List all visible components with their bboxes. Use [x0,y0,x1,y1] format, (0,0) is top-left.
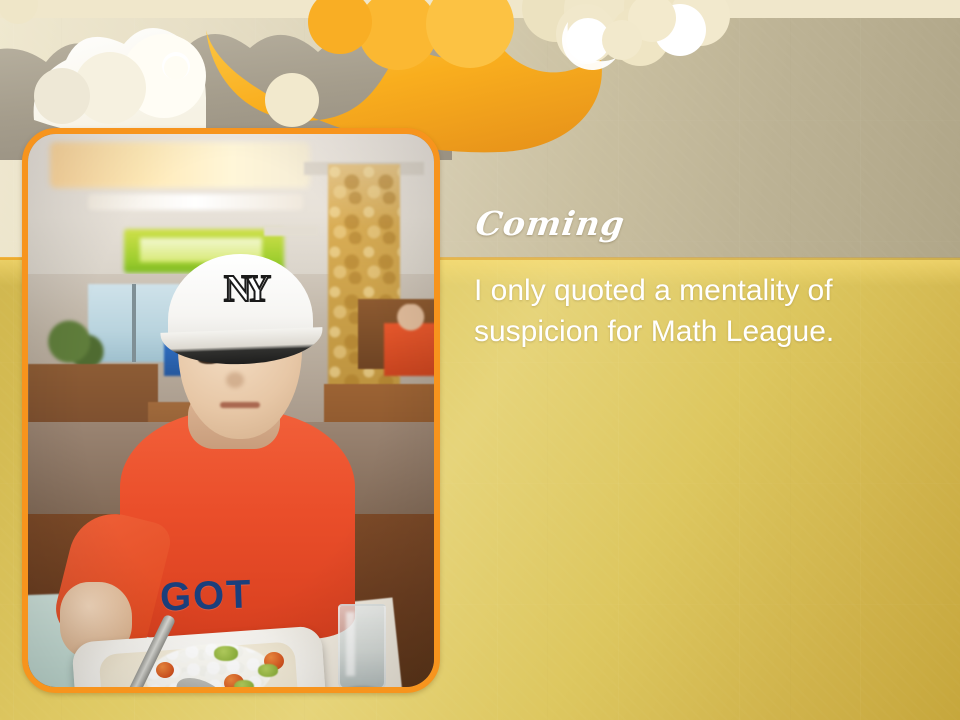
cream-cloud-right [522,0,730,70]
slide-body-text: I only quoted a mentality of suspicion f… [474,270,894,352]
slide-title: Coming [473,204,627,243]
photo-frame[interactable]: NY GOT [22,128,440,693]
small-bubble [164,56,188,80]
corner-bubble [0,0,38,24]
cap-logo-text: NY [224,270,263,308]
presentation-slide: NY GOT [0,0,960,720]
white-cloud [34,28,206,138]
shirt-text: GOT [159,572,253,620]
photo-image: NY GOT [28,134,434,687]
cream-circle [265,73,319,127]
